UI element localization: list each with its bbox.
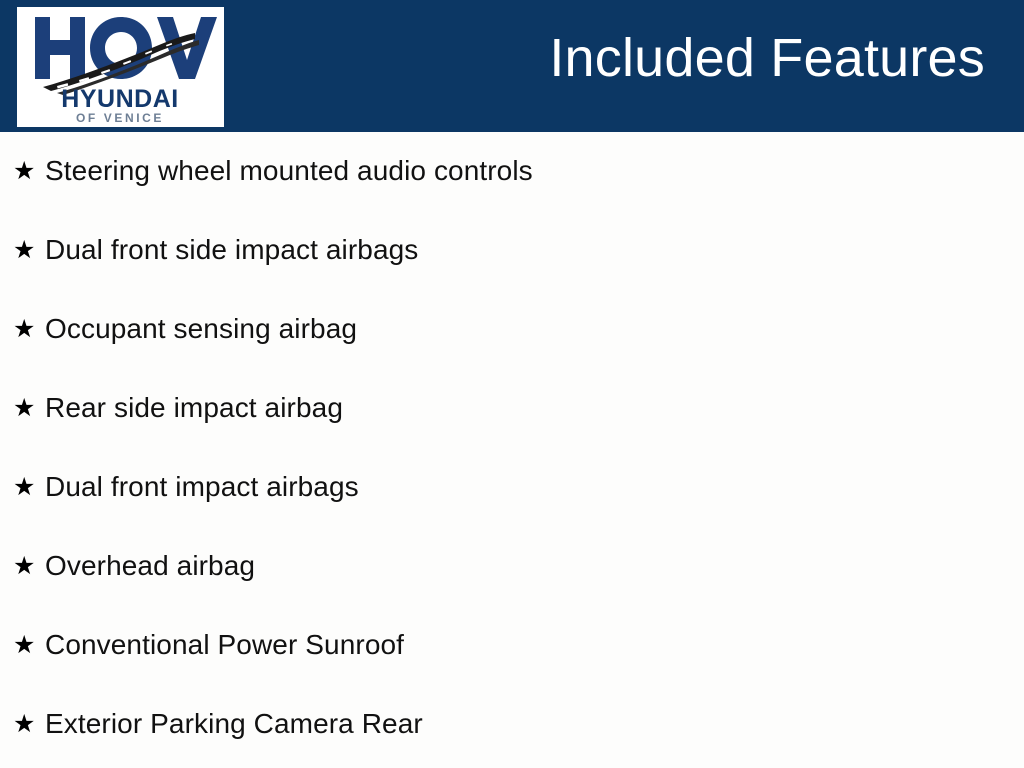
slide-root: HYUNDAI OF VENICE Included Features ★Ste… — [0, 0, 1024, 768]
feature-item: ★Overhead airbag — [11, 549, 255, 583]
feature-item: ★Dual front side impact airbags — [11, 233, 418, 267]
star-bullet-icon: ★ — [11, 628, 45, 662]
feature-label: Exterior Parking Camera Rear — [45, 707, 423, 741]
page-title: Included Features — [549, 26, 985, 90]
star-bullet-icon: ★ — [11, 391, 45, 425]
star-bullet-icon: ★ — [11, 707, 45, 741]
feature-label: Occupant sensing airbag — [45, 312, 357, 346]
feature-item: ★Exterior Parking Camera Rear — [11, 707, 423, 741]
star-bullet-icon: ★ — [11, 233, 45, 267]
feature-item: ★Conventional Power Sunroof — [11, 628, 404, 662]
feature-item: ★Dual front impact airbags — [11, 470, 359, 504]
dealer-logo-artwork: HYUNDAI OF VENICE — [17, 7, 224, 127]
logo-tagline-text: OF VENICE — [76, 111, 164, 125]
feature-label: Overhead airbag — [45, 549, 255, 583]
feature-item: ★Rear side impact airbag — [11, 391, 343, 425]
star-bullet-icon: ★ — [11, 470, 45, 504]
feature-label: Conventional Power Sunroof — [45, 628, 404, 662]
star-bullet-icon: ★ — [11, 154, 45, 188]
included-features-list: ★Steering wheel mounted audio controls★D… — [0, 132, 1024, 768]
star-bullet-icon: ★ — [11, 549, 45, 583]
feature-label: Steering wheel mounted audio controls — [45, 154, 533, 188]
star-bullet-icon: ★ — [11, 312, 45, 346]
feature-label: Dual front impact airbags — [45, 470, 359, 504]
slide-header: HYUNDAI OF VENICE Included Features — [0, 0, 1024, 132]
logo-brand-text: HYUNDAI — [61, 85, 178, 113]
feature-item: ★Steering wheel mounted audio controls — [11, 154, 533, 188]
hov-hyundai-logo-icon: HYUNDAI OF VENICE — [17, 7, 224, 127]
dealer-logo: HYUNDAI OF VENICE — [17, 7, 224, 127]
feature-label: Dual front side impact airbags — [45, 233, 418, 267]
feature-item: ★Occupant sensing airbag — [11, 312, 357, 346]
feature-label: Rear side impact airbag — [45, 391, 343, 425]
